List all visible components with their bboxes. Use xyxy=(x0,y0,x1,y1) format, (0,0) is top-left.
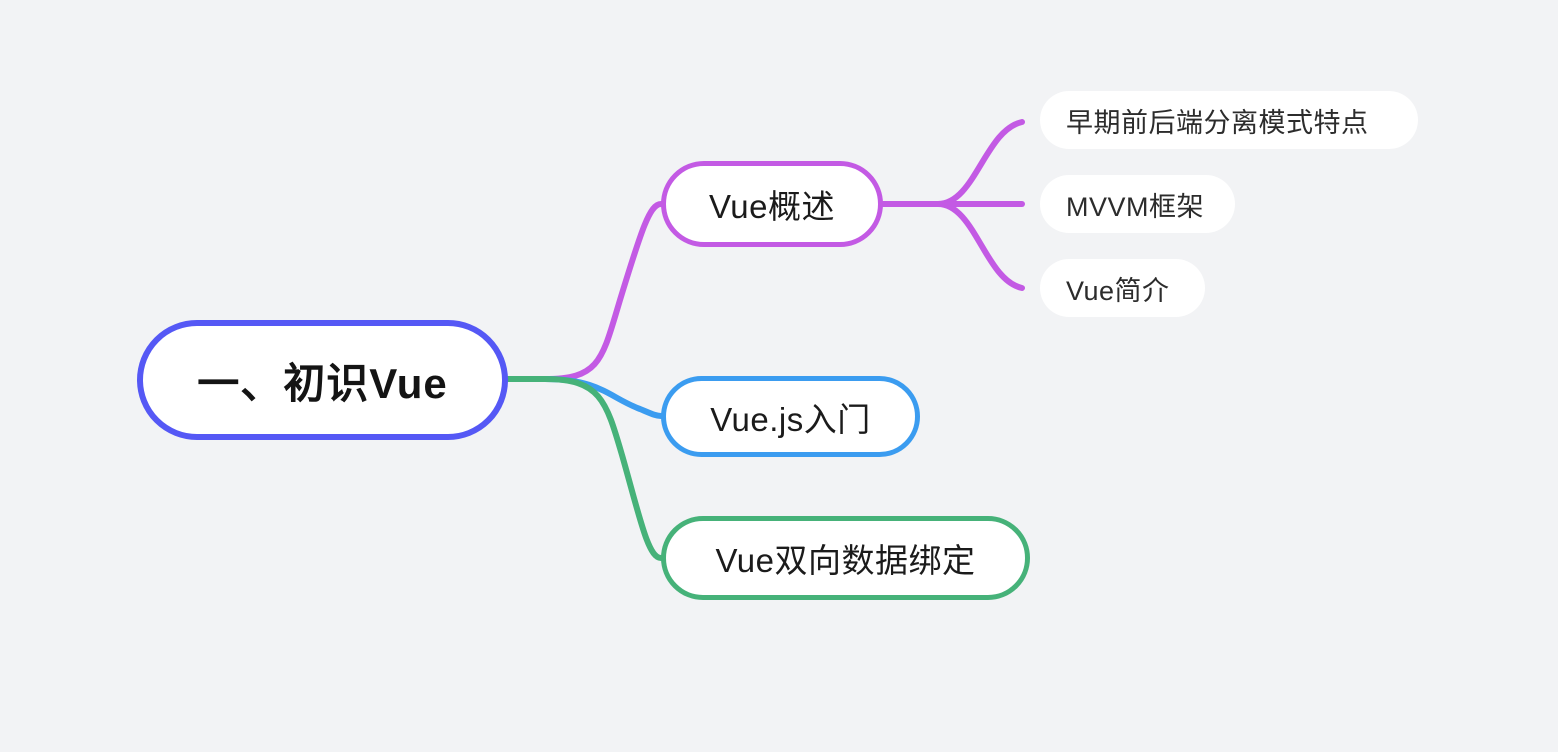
mindmap-node-vue-overview[interactable]: Vue概述 xyxy=(661,161,883,247)
mindmap-node-vue-intro[interactable]: Vue简介 xyxy=(1040,259,1205,317)
connector-root-to-overview xyxy=(508,204,661,379)
mindmap-node-mvvm-framework[interactable]: MVVM框架 xyxy=(1040,175,1235,233)
mindmap-node-vuejs-getting-started[interactable]: Vue.js入门 xyxy=(661,376,920,457)
connector-overview-to-leaf-3 xyxy=(938,204,1022,288)
connector-overview-to-leaf-1 xyxy=(938,122,1022,204)
mindmap-node-root[interactable]: 一、初识Vue xyxy=(137,320,508,440)
mindmap-canvas: 一、初识Vue Vue概述 Vue.js入门 Vue双向数据绑定 早期前后端分离… xyxy=(0,0,1558,752)
connector-root-to-two-way-binding xyxy=(508,379,661,558)
mindmap-node-early-separation-features[interactable]: 早期前后端分离模式特点 xyxy=(1040,91,1418,149)
mindmap-node-two-way-binding[interactable]: Vue双向数据绑定 xyxy=(661,516,1030,600)
connector-root-to-getting-started xyxy=(508,379,661,416)
